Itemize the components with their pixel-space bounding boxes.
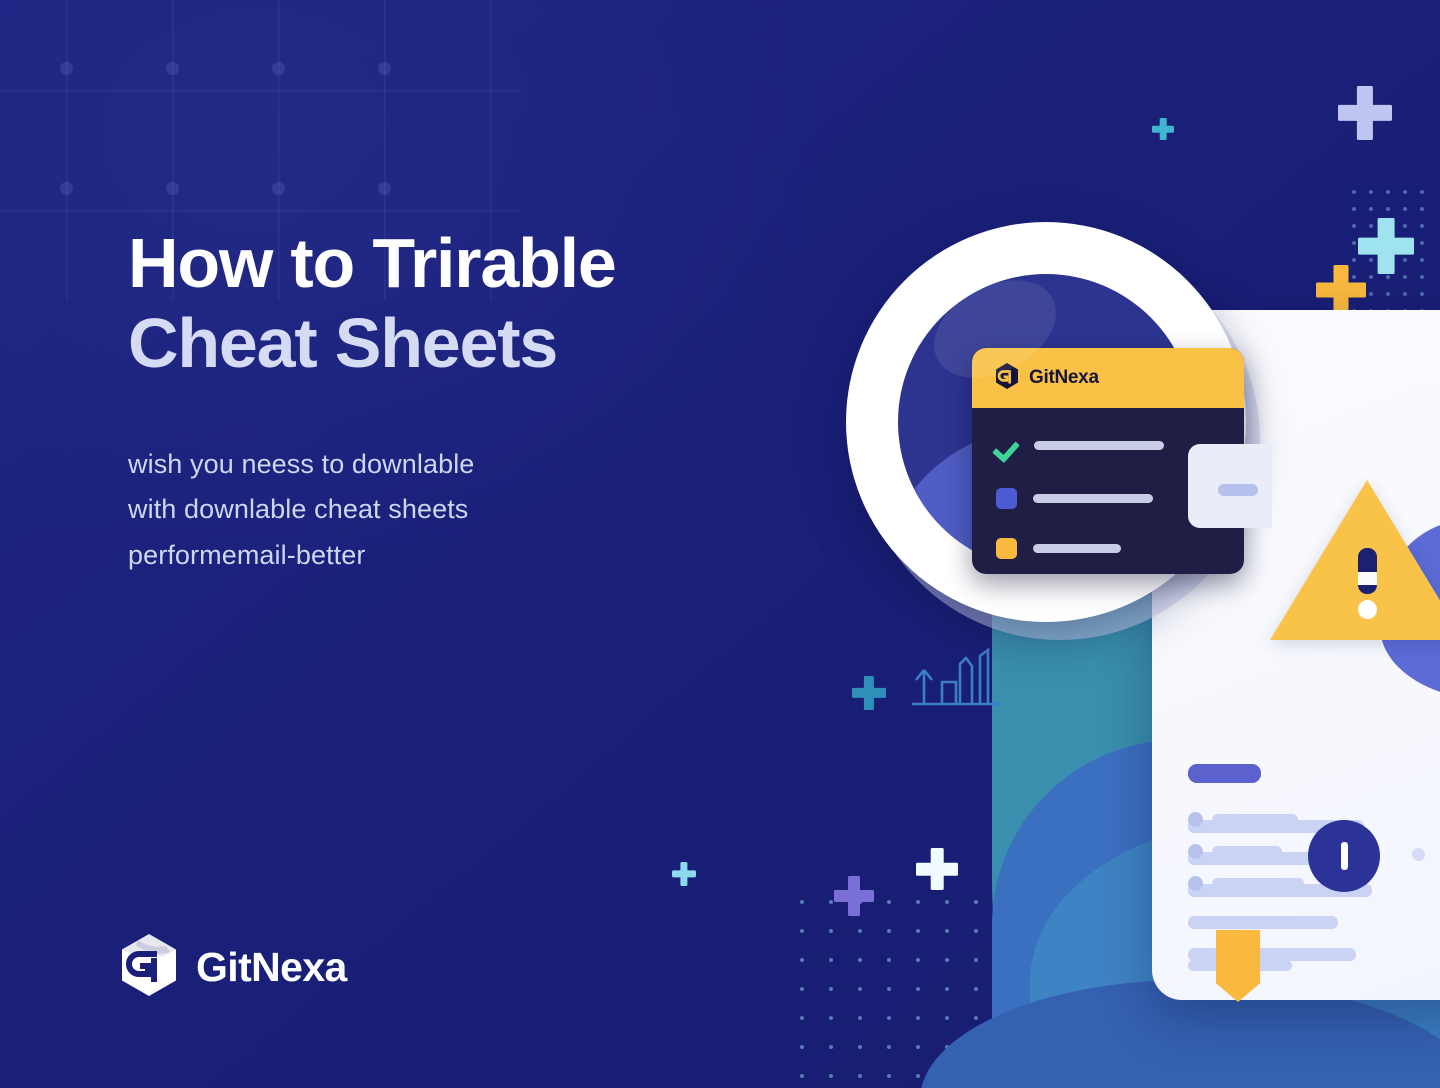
mini-checklist-row — [996, 538, 1121, 559]
brand-logo-lockup: GitNexa — [118, 932, 347, 1003]
mini-checklist-bar — [1033, 494, 1153, 503]
square-orange-icon — [996, 538, 1017, 559]
bar-chart-arrow-icon — [908, 648, 1004, 710]
subtitle-line-1: wish you neess to downlable — [128, 442, 474, 487]
mini-checklist-bar — [1034, 441, 1164, 450]
doc-bullet-dot — [1188, 876, 1203, 891]
plus-lavender-lg-icon — [1338, 86, 1392, 140]
subtitle: wish you neess to downlable with downlab… — [128, 442, 474, 578]
brand-name: GitNexa — [196, 944, 347, 991]
doc-bullet-line — [1212, 878, 1304, 889]
network-node-dot — [378, 62, 391, 75]
doc-bullet-line — [1212, 814, 1298, 825]
network-node-dot — [60, 182, 73, 195]
warning-exclamation-dot — [1358, 600, 1377, 619]
promo-banner: How to Trirable Cheat Sheets wish you ne… — [0, 0, 1440, 1088]
doc-section-heading — [1188, 764, 1261, 783]
doc-bullet-line — [1212, 846, 1282, 857]
hero-illustration: GitNexa — [800, 180, 1440, 1088]
network-node-dot — [272, 182, 285, 195]
network-node-dot — [378, 182, 391, 195]
network-node-dot — [272, 62, 285, 75]
badge-side-dot — [1412, 848, 1425, 861]
magnifying-glass-icon: GitNexa — [846, 222, 1246, 622]
warning-exclamation-stem — [1358, 548, 1377, 594]
doc-bullet-dot — [1188, 844, 1203, 859]
doc-bullet-dot — [1188, 812, 1203, 827]
hexagon-g-logo-icon — [118, 932, 180, 1003]
warning-exclamation-break — [1358, 572, 1377, 585]
network-node-dot — [166, 182, 179, 195]
square-blue-icon — [996, 488, 1017, 509]
mini-checklist-row — [996, 436, 1164, 454]
headline-line-2: Cheat Sheets — [128, 306, 616, 382]
network-node-dot — [60, 62, 73, 75]
info-bar-badge-icon — [1308, 820, 1380, 892]
plus-cyan-sm-icon — [672, 862, 696, 886]
subtitle-line-3: performemail-better — [128, 533, 474, 578]
mini-checklist-bar — [1033, 544, 1121, 553]
plus-teal-small-icon — [1152, 118, 1174, 140]
headline-line-1: How to Trirable — [128, 226, 616, 302]
page-title: How to Trirable Cheat Sheets — [128, 226, 616, 381]
mini-checklist-row — [996, 488, 1153, 509]
warning-triangle-icon — [1270, 480, 1440, 640]
check-green-icon — [996, 436, 1018, 454]
network-node-dot — [166, 62, 179, 75]
subtitle-line-2: with downlable cheat sheets — [128, 487, 474, 532]
mini-card-flap-line — [1218, 484, 1258, 496]
doc-text-line — [1188, 916, 1338, 929]
mini-card-brand: GitNexa — [1029, 367, 1099, 389]
